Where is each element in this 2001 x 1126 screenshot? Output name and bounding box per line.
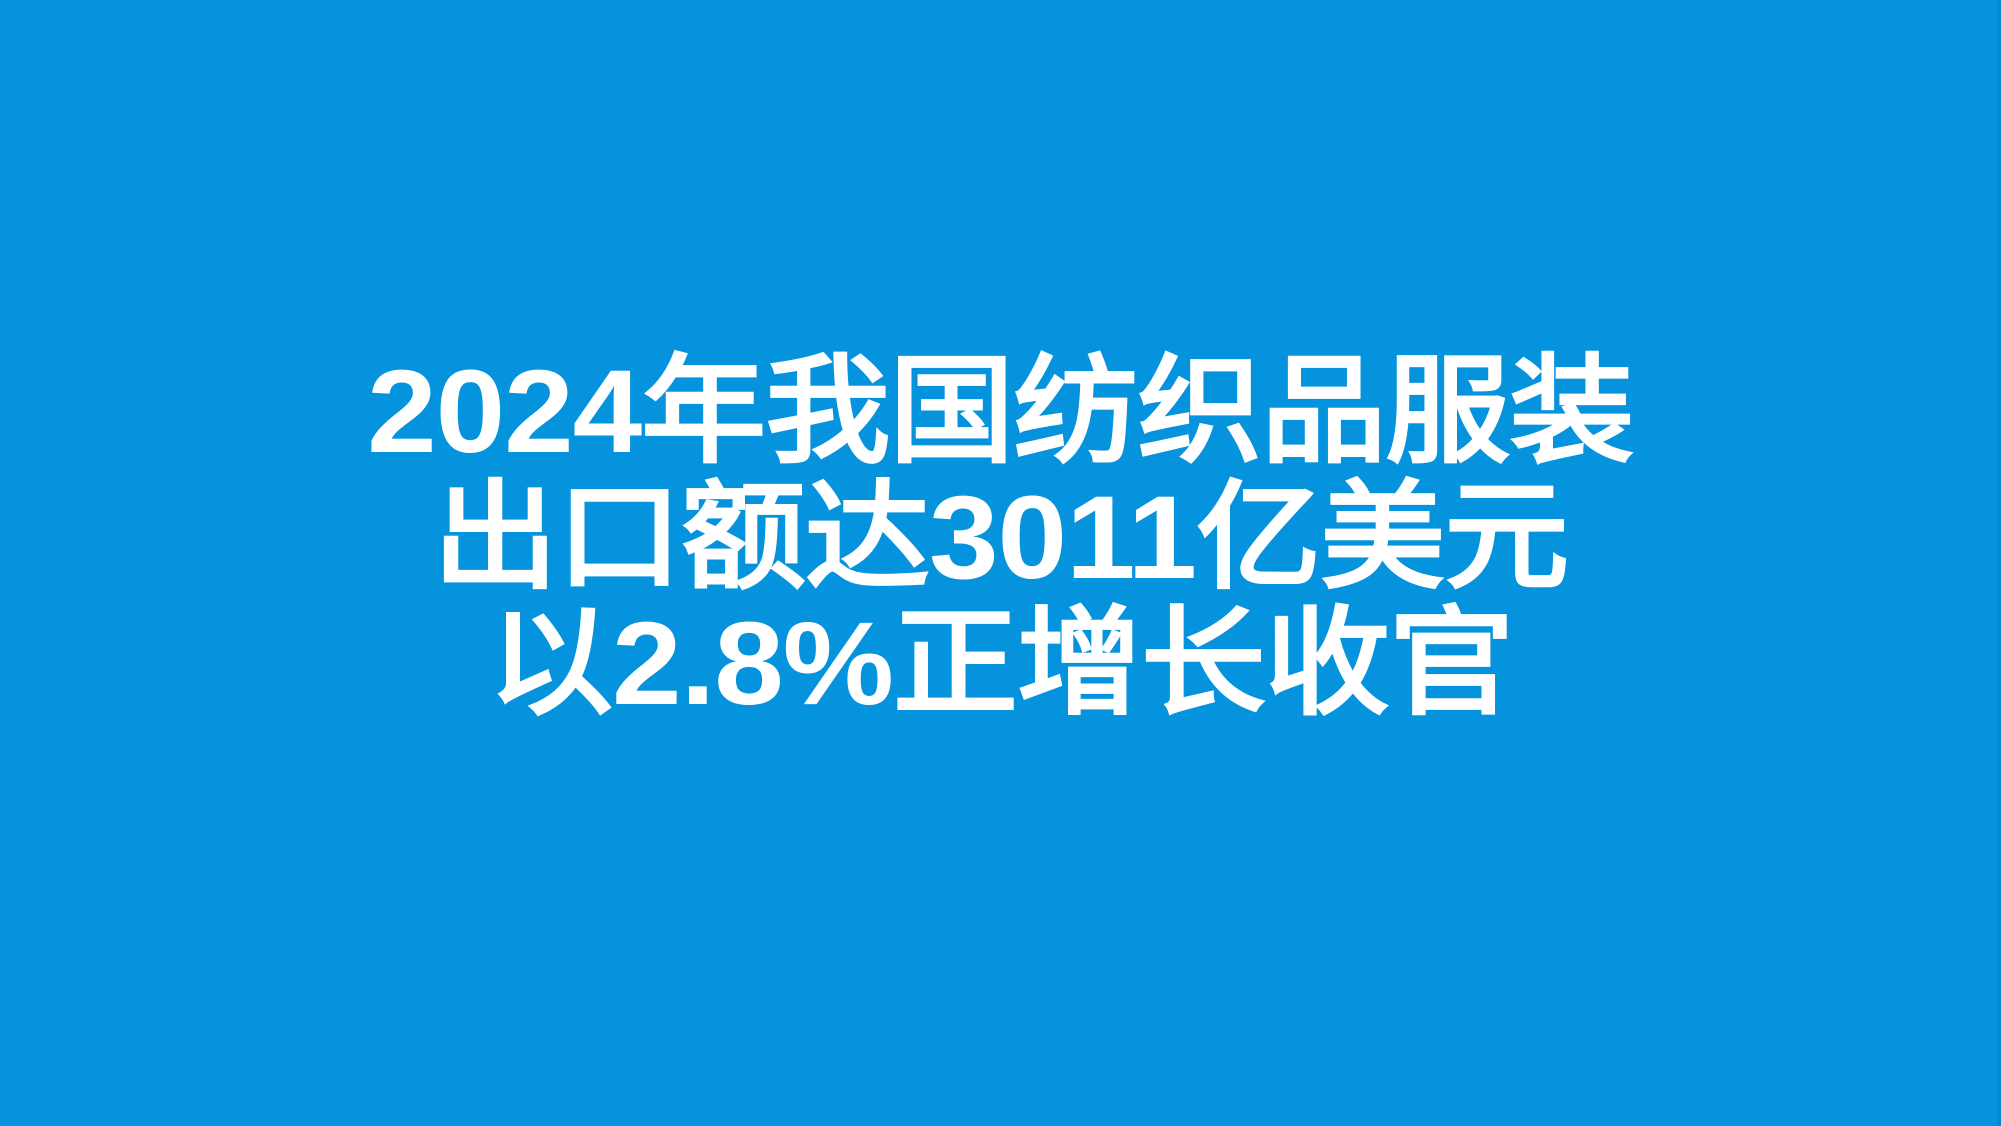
headline-line-2: 出口额达3011亿美元 (433, 478, 1568, 598)
headline-line-1: 2024年我国纺织品服装 (367, 352, 1633, 472)
headline-line-3: 以2.8%正增长收官 (488, 604, 1513, 724)
headline-block: 2024年我国纺织品服装 出口额达3011亿美元 以2.8%正增长收官 (0, 352, 2001, 724)
banner-canvas: 2024年我国纺织品服装 出口额达3011亿美元 以2.8%正增长收官 (0, 0, 2001, 1126)
